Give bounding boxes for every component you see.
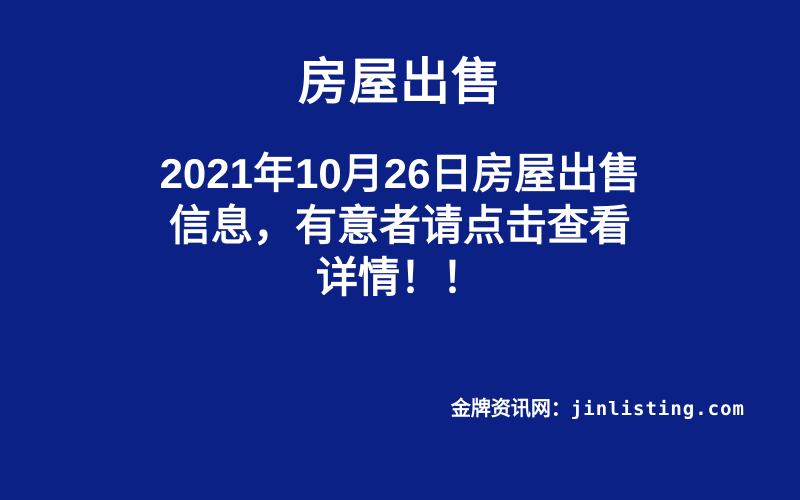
announcement-body: 2021年10月26日房屋出售 信息，有意者请点击查看 详情！！ <box>100 148 700 304</box>
page-title: 房屋出售 <box>0 52 800 112</box>
footer-site-label: 金牌资讯网： <box>451 398 571 420</box>
poster-canvas: 房屋出售 2021年10月26日房屋出售 信息，有意者请点击查看 详情！！ 金牌… <box>0 0 800 500</box>
announcement-line: 2021年10月26日房屋出售 <box>100 148 700 200</box>
announcement-line: 详情！！ <box>100 252 700 304</box>
footer-site-domain: jinlisting.com <box>571 398 745 420</box>
announcement-line: 信息，有意者请点击查看 <box>100 200 700 252</box>
footer-attribution: 金牌资讯网：jinlisting.com <box>0 392 800 421</box>
